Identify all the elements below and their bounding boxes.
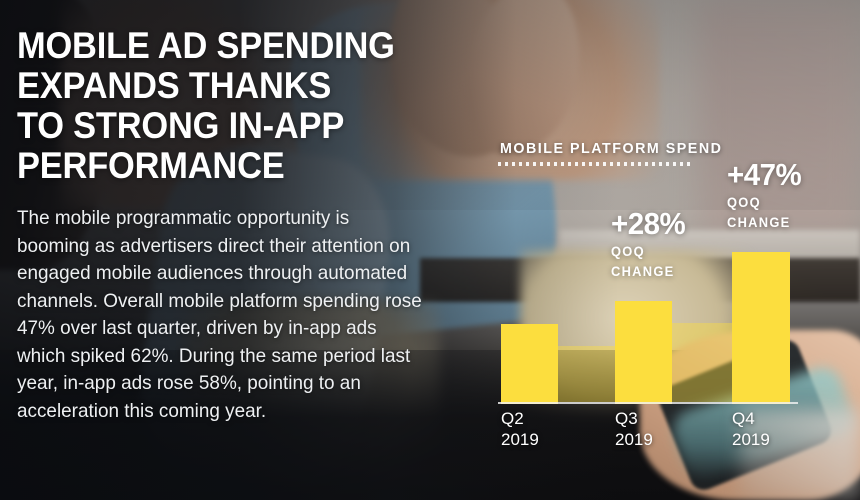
x-label-q3-quarter: Q3 [615, 408, 653, 429]
bar-q3-2019 [615, 301, 672, 404]
x-axis-labels: Q2 2019 Q3 2019 Q4 2019 [495, 408, 845, 464]
x-label-q3-year: 2019 [615, 429, 653, 450]
headline-line-4: PERFORMANCE [17, 146, 408, 186]
bar-chart-plot: +28% QoQ CHANGE +47% QoQ CHANGE [495, 164, 845, 404]
bar-q2-2019 [501, 324, 558, 404]
x-label-q4-year: 2019 [732, 429, 770, 450]
callout-q3-percent: +28% [611, 208, 685, 239]
headline-line-3: TO STRONG IN-APP [17, 106, 408, 146]
x-label-q3-2019: Q3 2019 [615, 408, 653, 450]
callout-q4-sub2: CHANGE [727, 214, 799, 230]
x-label-q2-year: 2019 [501, 429, 539, 450]
x-axis-line [498, 402, 798, 404]
headline-line-1: MOBILE AD SPENDING [17, 26, 408, 66]
callout-q4-sub: QoQ [727, 194, 799, 210]
x-label-q2-quarter: Q2 [501, 408, 539, 429]
callout-q3-sub: QoQ [611, 243, 683, 259]
infographic-canvas: MOBILE AD SPENDING EXPANDS THANKS TO STR… [0, 0, 860, 500]
callout-q4-2019: +47% QoQ CHANGE [727, 159, 805, 230]
headline-line-2: EXPANDS THANKS [17, 66, 408, 106]
x-label-q4-2019: Q4 2019 [732, 408, 770, 450]
headline: MOBILE AD SPENDING EXPANDS THANKS TO STR… [17, 26, 408, 186]
callout-q4-percent: +47% [727, 159, 801, 190]
body-paragraph: The mobile programmatic opportunity is b… [17, 205, 424, 425]
callout-q3-sub2: CHANGE [611, 263, 683, 279]
callout-q3-2019: +28% QoQ CHANGE [611, 208, 689, 279]
bar-q4-2019 [732, 252, 790, 404]
chart-title: MOBILE PLATFORM SPEND [500, 140, 722, 157]
x-label-q2-2019: Q2 2019 [501, 408, 539, 450]
chart-panel: MOBILE PLATFORM SPEND +28% QoQ CHANGE +4… [495, 140, 845, 460]
copy-block: MOBILE AD SPENDING EXPANDS THANKS TO STR… [17, 26, 437, 425]
x-label-q4-quarter: Q4 [732, 408, 770, 429]
